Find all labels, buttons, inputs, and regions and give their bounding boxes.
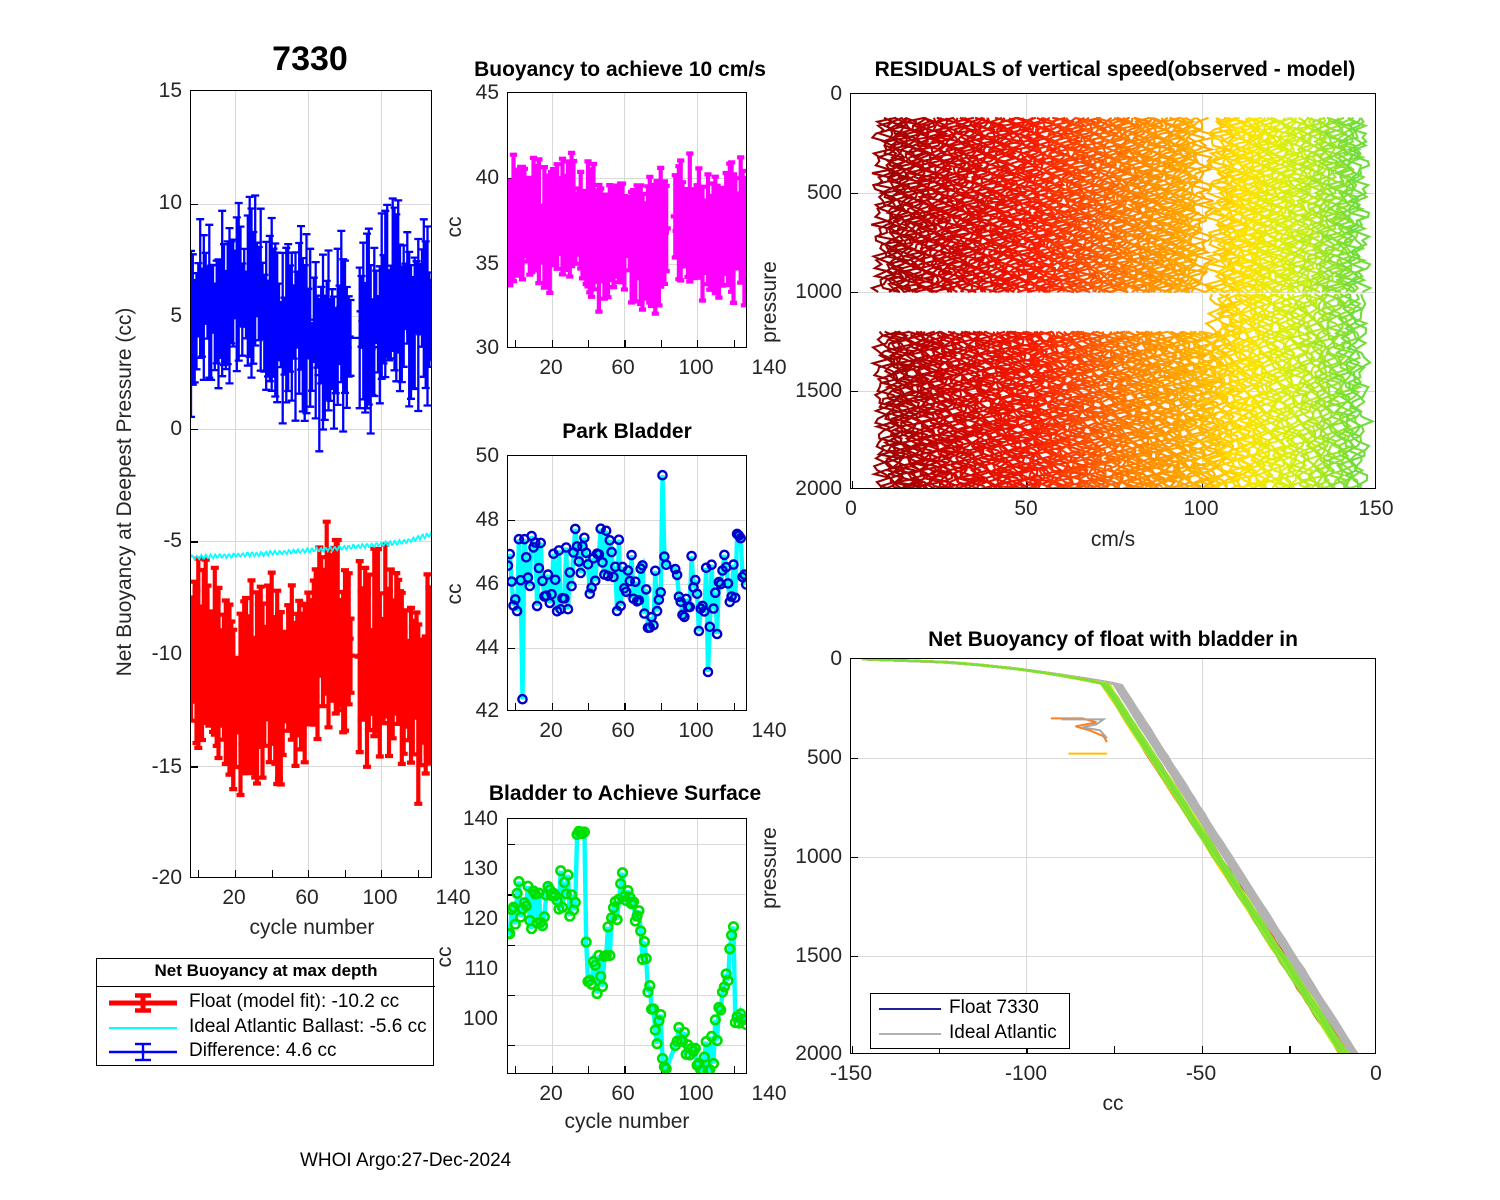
legend-label-ideal-atlantic: Ideal Atlantic xyxy=(949,1022,1057,1044)
ytick-bs-0: 140 xyxy=(428,807,498,831)
xtick-bs-2: 100 xyxy=(666,1082,726,1106)
xtick-pb-3: 140 xyxy=(739,719,799,743)
legend-entry-difference: Difference: 4.6 cc xyxy=(105,1040,435,1064)
axes-bladder-surface xyxy=(507,818,747,1074)
plot-bladder-surface xyxy=(508,819,747,1074)
legend-entry-float-7330: Float 7330 xyxy=(875,996,1071,1021)
xtick-b10-0: 20 xyxy=(521,356,581,380)
plot-buoyancy-10cms xyxy=(508,93,747,348)
xtick-bs-3: 140 xyxy=(739,1082,799,1106)
xtick-res-1: 50 xyxy=(996,497,1056,521)
xtick-res-3: 150 xyxy=(1346,497,1406,521)
xtick-nbd-2: 100 xyxy=(350,886,410,910)
ytick-bs-4: 100 xyxy=(428,1007,498,1031)
plot-park-bladder xyxy=(508,456,747,711)
ytick-nbb-0: 0 xyxy=(790,647,842,671)
xtick-nbd-1: 60 xyxy=(277,886,337,910)
figure-main-title: 7330 xyxy=(190,40,430,79)
xtick-res-2: 100 xyxy=(1171,497,1231,521)
ytick-pb-1: 48 xyxy=(437,508,499,532)
legend-bladder-in: Float 7330 Ideal Atlantic xyxy=(870,993,1070,1049)
ytick-nbd-1: 10 xyxy=(120,191,182,215)
ytick-res-3: 1500 xyxy=(790,379,842,403)
ytick-res-2: 1000 xyxy=(790,280,842,304)
ytick-nbb-2: 1000 xyxy=(790,845,842,869)
title-bladder-surface: Bladder to Achieve Surface xyxy=(450,782,800,806)
ytick-nbd-4: -5 xyxy=(120,529,182,553)
title-buoyancy-10cms: Buoyancy to achieve 10 cm/s xyxy=(440,58,800,82)
ytick-nbd-5: -10 xyxy=(120,642,182,666)
xtick-bs-0: 20 xyxy=(521,1082,581,1106)
title-park-bladder: Park Bladder xyxy=(507,420,747,444)
ytick-b10-3: 30 xyxy=(437,336,499,360)
legend-entry-float: Float (model fit): -10.2 cc xyxy=(105,991,435,1015)
ytick-nbd-6: -15 xyxy=(120,755,182,779)
axes-buoyancy-10cms xyxy=(507,92,747,348)
axis-label-x-residuals: cm/s xyxy=(850,528,1376,552)
legend-label-difference: Difference: 4.6 cc xyxy=(189,1040,337,1062)
ytick-res-0: 0 xyxy=(790,82,842,106)
ytick-nbd-3: 0 xyxy=(120,417,182,441)
xtick-res-0: 0 xyxy=(821,497,881,521)
xtick-bs-1: 60 xyxy=(593,1082,653,1106)
ytick-b10-0: 45 xyxy=(437,81,499,105)
ytick-pb-4: 42 xyxy=(437,699,499,723)
axes-residuals xyxy=(850,93,1376,489)
axis-label-y-buoyancy-10cms: cc xyxy=(443,197,467,257)
legend-label-float: Float (model fit): -10.2 cc xyxy=(189,991,399,1013)
ytick-nbd-7: -20 xyxy=(120,866,182,890)
legend-label-float-7330: Float 7330 xyxy=(949,997,1039,1019)
legend-entry-ideal-atlantic: Ideal Atlantic xyxy=(875,1021,1071,1046)
legend-net-buoyancy-max-depth: Net Buoyancy at max depth Float (model f… xyxy=(96,958,434,1066)
title-residuals: RESIDUALS of vertical speed(observed - m… xyxy=(820,58,1410,82)
ytick-nbd-0: 15 xyxy=(120,79,182,103)
axis-label-x-net-buoyancy-deepest: cycle number xyxy=(191,916,433,940)
xtick-nbb-3: 0 xyxy=(1340,1062,1412,1086)
xtick-pb-1: 60 xyxy=(593,719,653,743)
plot-net-buoyancy-deepest xyxy=(191,91,432,878)
axis-label-x-net-buoyancy-bladder-in: cc xyxy=(850,1092,1376,1116)
legend-divider xyxy=(97,986,435,987)
xtick-pb-0: 20 xyxy=(521,719,581,743)
ytick-bs-1: 130 xyxy=(428,857,498,881)
xtick-nbb-1: -100 xyxy=(990,1062,1062,1086)
legend-label-ideal: Ideal Atlantic Ballast: -5.6 cc xyxy=(189,1016,427,1038)
axis-label-y-residuals: pressure xyxy=(758,222,782,382)
plot-residuals xyxy=(851,94,1376,489)
ytick-b10-2: 35 xyxy=(437,252,499,276)
ytick-nbb-3: 1500 xyxy=(790,944,842,968)
axes-park-bladder xyxy=(507,455,747,711)
ytick-pb-2: 46 xyxy=(437,572,499,596)
ytick-b10-1: 40 xyxy=(437,166,499,190)
xtick-nbb-0: -150 xyxy=(815,1062,887,1086)
ytick-res-1: 500 xyxy=(790,181,842,205)
ytick-bs-2: 120 xyxy=(428,907,498,931)
xtick-nbb-2: -50 xyxy=(1165,1062,1237,1086)
footer-credit: WHOI Argo:27-Dec-2024 xyxy=(300,1150,511,1172)
xtick-pb-2: 100 xyxy=(666,719,726,743)
axes-net-buoyancy-deepest xyxy=(190,90,432,878)
xtick-b10-1: 60 xyxy=(593,356,653,380)
axis-label-x-bladder-surface: cycle number xyxy=(507,1110,747,1134)
legend-entry-ideal: Ideal Atlantic Ballast: -5.6 cc xyxy=(105,1016,435,1040)
ytick-pb-0: 50 xyxy=(437,444,499,468)
xtick-nbd-0: 20 xyxy=(204,886,264,910)
legend-title: Net Buoyancy at max depth xyxy=(97,961,435,981)
xtick-b10-2: 100 xyxy=(666,356,726,380)
ytick-nbd-2: 5 xyxy=(120,304,182,328)
axis-label-y-net-buoyancy-bladder-in: pressure xyxy=(758,788,782,948)
ytick-bs-3: 110 xyxy=(428,957,498,981)
title-net-buoyancy-bladder-in: Net Buoyancy of float with bladder in xyxy=(850,628,1376,652)
ytick-nbb-1: 500 xyxy=(790,746,842,770)
ytick-pb-3: 44 xyxy=(437,636,499,660)
